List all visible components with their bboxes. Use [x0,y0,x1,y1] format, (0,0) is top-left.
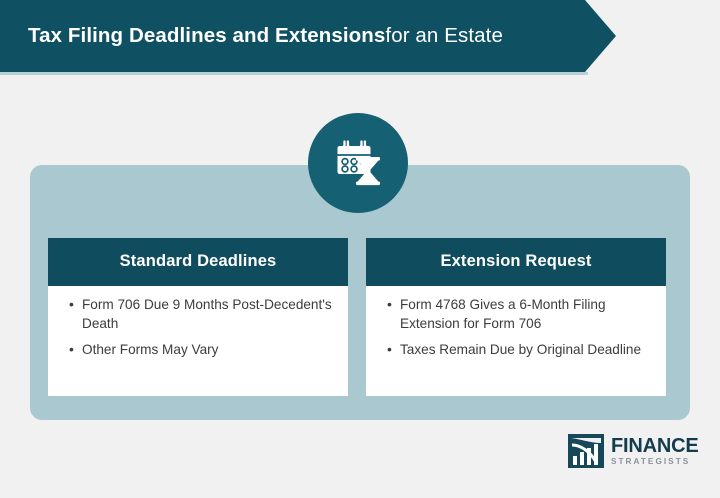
list-item: Other Forms May Vary [82,341,334,360]
list-item: Form 706 Due 9 Months Post-Decedent's De… [82,296,334,333]
card-extension-request: Extension Request Form 4768 Gives a 6-Mo… [366,238,666,396]
card-standard-deadlines: Standard Deadlines Form 706 Due 9 Months… [48,238,348,396]
logo-mark-icon [568,434,604,468]
card-header-standard-deadlines: Standard Deadlines [48,238,348,286]
logo-name: FINANCE [611,436,699,456]
header-banner: Tax Filing Deadlines and Extensions for … [0,0,616,72]
bullet-list-extension-request: Form 4768 Gives a 6-Month Filing Extensi… [380,296,652,360]
card-body-standard-deadlines: Form 706 Due 9 Months Post-Decedent's De… [48,286,348,396]
page-title: Tax Filing Deadlines and Extensions for … [28,0,503,72]
finance-strategists-logo: FINANCE STRATEGISTS [568,434,699,468]
card-body-extension-request: Form 4768 Gives a 6-Month Filing Extensi… [366,286,666,396]
page-title-light: for an Estate [385,24,503,48]
calendar-hourglass-icon [308,113,408,213]
cards-container: Standard Deadlines Form 706 Due 9 Months… [48,238,672,396]
list-item: Form 4768 Gives a 6-Month Filing Extensi… [400,296,652,333]
header-banner-underline [0,72,588,75]
logo-text: FINANCE STRATEGISTS [611,436,699,466]
logo-subtitle: STRATEGISTS [611,458,699,466]
card-header-extension-request: Extension Request [366,238,666,286]
page-title-strong: Tax Filing Deadlines and Extensions [28,24,385,48]
list-item: Taxes Remain Due by Original Deadline [400,341,652,360]
bullet-list-standard-deadlines: Form 706 Due 9 Months Post-Decedent's De… [62,296,334,360]
